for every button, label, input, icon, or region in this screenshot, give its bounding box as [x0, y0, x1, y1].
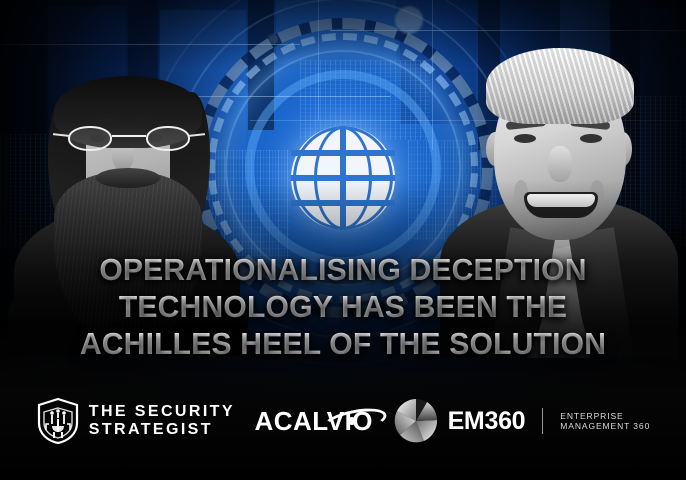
portrait-glasses-icon [68, 126, 190, 152]
logo-bar: THE SECURITY STRATEGIST ACALVIO [0, 390, 686, 452]
logo-em360[interactable]: EM360 ENTERPRISE MANAGEMENT 360 [393, 398, 651, 444]
logo-ss-line-1: THE SECURITY [89, 403, 235, 421]
logo-the-security-strategist[interactable]: THE SECURITY STRATEGIST [36, 397, 235, 445]
logo-em360-divider [542, 408, 543, 434]
portrait-eye [514, 134, 536, 143]
logo-em360-wordmark: EM360 [448, 407, 526, 436]
shield-circuit-icon [36, 397, 80, 445]
promo-card: OPERATIONALISING DECEPTION TECHNOLOGY HA… [0, 0, 686, 480]
logo-ss-line-2: STRATEGIST [89, 421, 235, 439]
pinwheel-fan-icon [393, 398, 439, 444]
glasses-bridge [112, 135, 146, 137]
logo-security-strategist-text: THE SECURITY STRATEGIST [89, 403, 235, 439]
logo-em360-subtitle: ENTERPRISE MANAGEMENT 360 [560, 411, 650, 431]
logo-em360-sub-line-2: MANAGEMENT 360 [560, 421, 650, 431]
portrait-nose [548, 146, 572, 182]
glasses-lens [146, 126, 190, 151]
glasses-lens [68, 126, 112, 151]
logo-acalvio[interactable]: ACALVIO [254, 406, 373, 437]
orbit-center-dot-icon [348, 417, 356, 425]
portrait-hair [486, 48, 634, 124]
globe-parallel [291, 150, 395, 156]
logo-em360-sub-line-1: ENTERPRISE [560, 411, 650, 421]
portrait-eye [580, 134, 602, 143]
